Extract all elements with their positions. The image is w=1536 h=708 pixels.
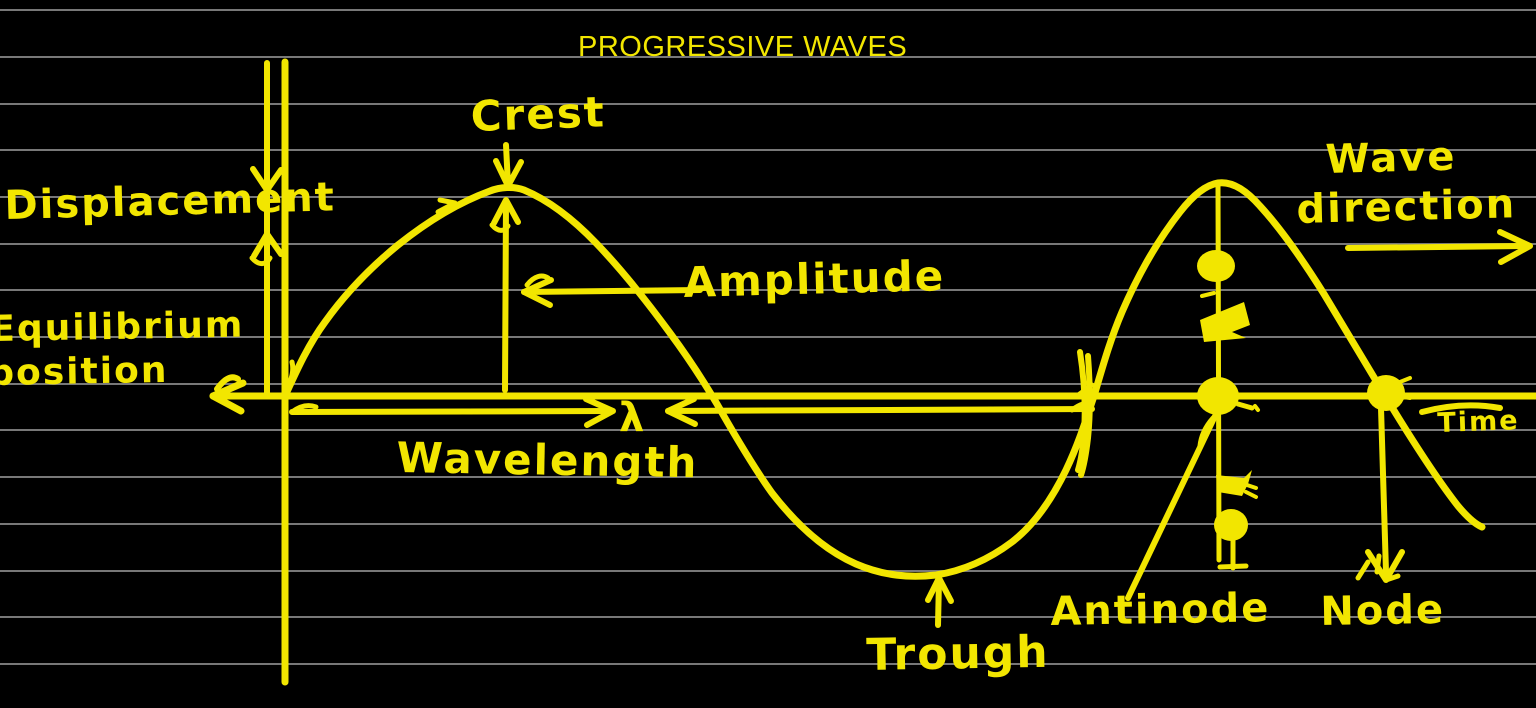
crest-arrow xyxy=(496,145,521,186)
diagram-title: PROGRESSIVE WAVES xyxy=(578,33,907,62)
wavelength-label: Wavelength xyxy=(396,437,699,484)
displacement-axis-label: Displacement xyxy=(4,177,336,226)
wave-direction-arrow xyxy=(1348,232,1530,262)
wave-direction-label-line1: Wave xyxy=(1325,137,1457,180)
position-label: position xyxy=(0,353,169,392)
node-label: Node xyxy=(1320,590,1445,632)
whiteboard-canvas: PROGRESSIVE WAVES Displacement Equilibri… xyxy=(0,0,1536,708)
time-axis-label: Time xyxy=(1437,407,1520,437)
wavelength-arrow xyxy=(292,399,1092,425)
equilibrium-label: Equilibrium xyxy=(0,308,245,348)
amplitude-label: Amplitude xyxy=(683,255,946,304)
amplitude-arrow xyxy=(492,200,518,390)
amplitude-pointer xyxy=(524,276,700,305)
antinode-label: Antinode xyxy=(1050,588,1271,632)
displacement-double-arrow xyxy=(252,63,281,393)
antinode-marker xyxy=(1128,186,1258,598)
wave-curve xyxy=(285,183,1482,577)
phase-mark xyxy=(1077,352,1092,475)
equilibrium-axis xyxy=(213,377,1536,411)
wave-direction-label-line2: direction xyxy=(1296,184,1517,230)
wave-diagram-svg xyxy=(0,0,1536,708)
lambda-symbol-label: λ xyxy=(619,398,646,438)
crest-label: Crest xyxy=(470,91,606,138)
trough-label: Trough xyxy=(866,631,1050,678)
